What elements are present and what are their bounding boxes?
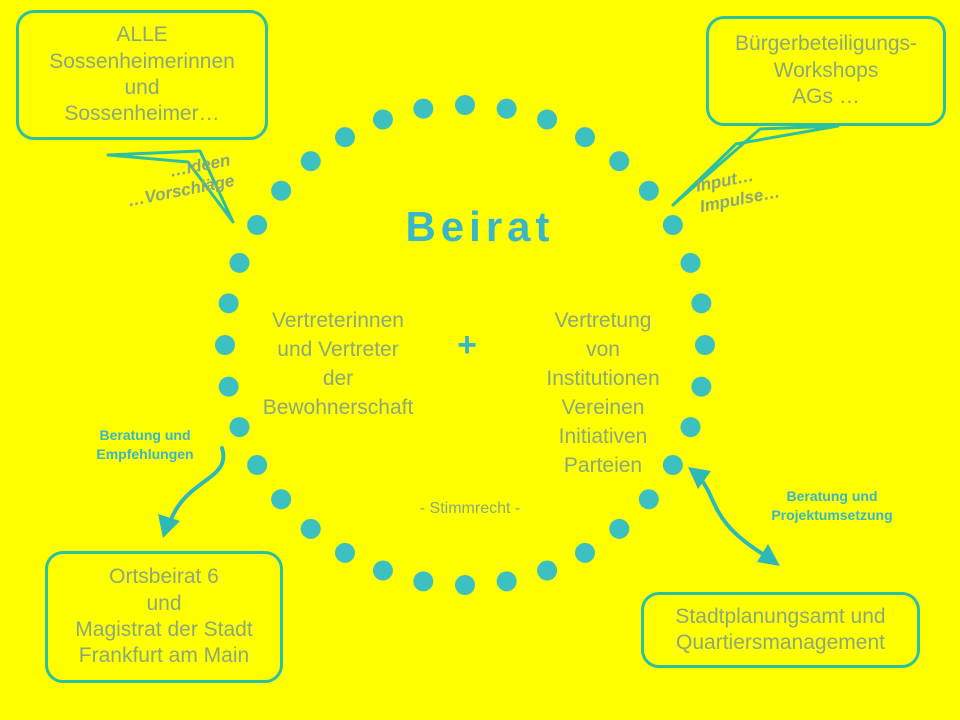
ring-dot (271, 489, 291, 509)
ring-dot (455, 575, 475, 595)
ring-dot (639, 181, 659, 201)
council-residents-column: Vertreterinnen und Vertreter der Bewohne… (243, 307, 433, 423)
ring-dot (271, 181, 291, 201)
diagram-canvas: ALLE Sossenheimerinnen und Sossenheimer…… (0, 0, 960, 720)
speech-bubble-workshops[interactable]: Bürgerbeteiligungs- Workshops AGs … (706, 16, 946, 126)
ring-dot (455, 95, 475, 115)
residents-line-3: der (243, 365, 433, 394)
label-beratung-projekt-line-1: Beratung und (787, 488, 878, 504)
ring-dot (373, 109, 393, 129)
ring-dot (639, 489, 659, 509)
ring-dot (219, 293, 239, 313)
box-stadtplanung-line-2: Quartiersmanagement (676, 630, 885, 656)
ring-dot (537, 561, 557, 581)
box-ortsbeirat-line-4: Frankfurt am Main (79, 643, 249, 669)
label-beratung-projekt-line-2: Projektumsetzung (771, 507, 892, 523)
bubble-citizens-line-2: Sossenheimerinnen (49, 49, 235, 75)
ring-dot (575, 543, 595, 563)
institutions-line-2: von (508, 336, 698, 365)
ring-dot (335, 127, 355, 147)
label-beratung-projektumsetzung: Beratung und Projektumsetzung (742, 487, 922, 525)
page-title: Beirat (0, 203, 960, 251)
bubble-citizens-line-3: und (124, 75, 159, 101)
ring-dot (695, 335, 715, 355)
ring-dot (537, 109, 557, 129)
ring-dot (681, 253, 701, 273)
ring-dot (373, 561, 393, 581)
residents-line-2: und Vertreter (243, 336, 433, 365)
speech-bubble-citizens[interactable]: ALLE Sossenheimerinnen und Sossenheimer… (16, 10, 268, 140)
box-stadtplanung-line-1: Stadtplanungsamt und (675, 604, 885, 630)
ring-dot (219, 377, 239, 397)
bubble-workshops-line-2: Workshops (774, 58, 879, 84)
box-ortsbeirat-line-3: Magistrat der Stadt (75, 617, 252, 643)
plus-icon: + (449, 328, 485, 362)
ring-dot (497, 571, 517, 591)
box-stadtplanungsamt-quartiersmanagement[interactable]: Stadtplanungsamt und Quartiersmanagement (641, 592, 920, 668)
institutions-line-4: Vereinen (508, 394, 698, 423)
arrowhead-beratung-projekt-down (757, 544, 780, 566)
bubble-citizens-line-4: Sossenheimer… (64, 101, 219, 127)
voting-rights-note: - Stimmrecht - (300, 500, 640, 518)
box-ortsbeirat-line-2: und (146, 591, 181, 617)
ring-dot (575, 127, 595, 147)
ring-dot (215, 335, 235, 355)
label-beratung-empfehlungen-line-2: Empfehlungen (96, 446, 193, 462)
box-ortsbeirat-line-1: Ortsbeirat 6 (109, 564, 219, 590)
ring-dot (609, 519, 629, 539)
box-ortsbeirat-magistrat[interactable]: Ortsbeirat 6 und Magistrat der Stadt Fra… (45, 551, 283, 683)
institutions-line-3: Institutionen (508, 365, 698, 394)
residents-line-1: Vertreterinnen (243, 307, 433, 336)
ring-dot (609, 151, 629, 171)
council-institutions-column: Vertretung von Institutionen Vereinen In… (508, 307, 698, 481)
institutions-line-1: Vertretung (508, 307, 698, 336)
ring-dot (301, 151, 321, 171)
residents-line-4: Bewohnerschaft (243, 394, 433, 423)
institutions-line-5: Initiativen (508, 423, 698, 452)
bubble-workshops-line-3: AGs … (792, 84, 860, 110)
bubble-workshops-line-1: Bürgerbeteiligungs- (735, 31, 917, 57)
ring-dot (497, 99, 517, 119)
ring-dot (413, 99, 433, 119)
ring-dot (229, 253, 249, 273)
institutions-line-6: Parteien (508, 452, 698, 481)
bubble-citizens-line-1: ALLE (116, 22, 167, 48)
ring-dot (335, 543, 355, 563)
label-beratung-empfehlungen: Beratung und Empfehlungen (70, 426, 220, 464)
arrowhead-beratung-empfehlungen (158, 514, 180, 538)
ring-dot (413, 571, 433, 591)
ring-dot (301, 519, 321, 539)
label-beratung-empfehlungen-line-1: Beratung und (100, 427, 191, 443)
